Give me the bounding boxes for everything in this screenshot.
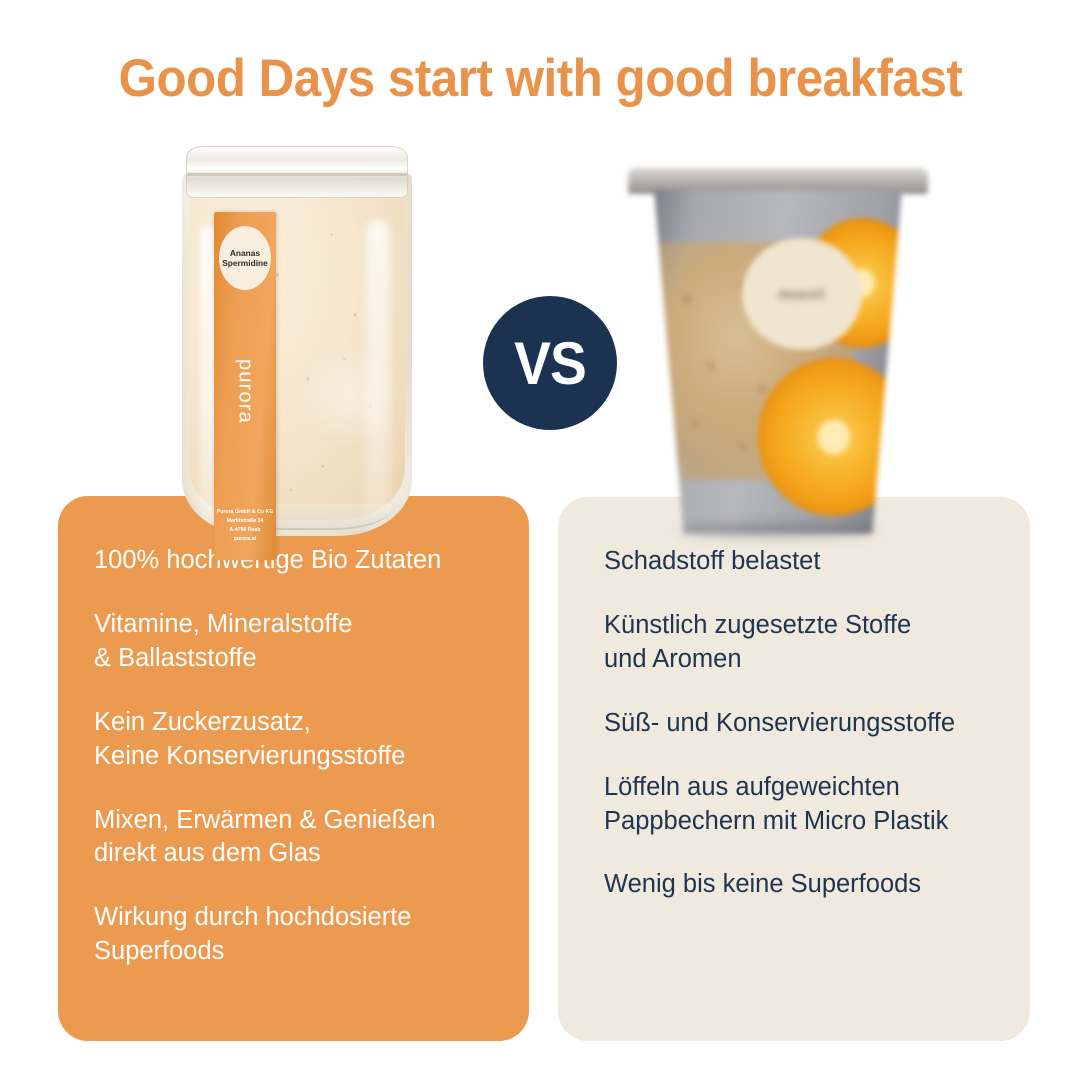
- label-flavor-line-1: Ananas: [230, 248, 260, 259]
- cup-shadow: [680, 522, 876, 538]
- vs-badge: VS: [483, 296, 617, 430]
- drawbacks-list: Schadstoff belastet Künstlich zugesetzte…: [604, 545, 1016, 902]
- list-item: Löffeln aus aufgeweichten Pappbechern mi…: [604, 771, 1016, 839]
- list-item: Wirkung durch hochdosierte Superfoods: [94, 901, 507, 969]
- list-item: Vitamine, Mineralstoffe & Ballaststoffe: [94, 608, 507, 676]
- label-flavor-line-2: Spermidine: [222, 258, 268, 269]
- benefits-list: 100% hochwertige Bio Zutaten Vitamine, M…: [94, 544, 507, 969]
- cup-body: muesli: [654, 190, 902, 534]
- list-item: Kein Zuckerzusatz, Keine Konservierungss…: [94, 706, 507, 774]
- list-item: 100% hochwertige Bio Zutaten: [94, 544, 507, 578]
- product-image-purora-jar: Ananas Spermidine purora Purora GmbH & C…: [176, 146, 418, 538]
- benefits-panel-purora: 100% hochwertige Bio Zutaten Vitamine, M…: [58, 496, 529, 1041]
- page-title: Good Days start with good breakfast: [38, 48, 1043, 109]
- label-fine-print-line-2: Marktstraße 34: [214, 517, 276, 526]
- list-item: Künstlich zugesetzte Stoffe und Aromen: [604, 609, 1016, 677]
- product-label: Ananas Spermidine purora Purora GmbH & C…: [214, 212, 276, 560]
- label-fine-print-line-3: A-4780 Raab: [214, 526, 276, 535]
- label-fine-print-line-1: Purora GmbH & Co KG: [214, 508, 276, 517]
- cup-brand-badge: muesli: [742, 238, 862, 350]
- jar-highlight-right: [366, 220, 390, 536]
- vs-badge-label: VS: [514, 329, 586, 398]
- label-flavor-oval: Ananas Spermidine: [219, 226, 271, 290]
- cup-brand-badge-text: muesli: [778, 287, 825, 302]
- jar-rim: [186, 146, 408, 198]
- label-fine-print-line-4: purora.at: [214, 535, 276, 544]
- list-item: Wenig bis keine Superfoods: [604, 868, 1016, 902]
- list-item: Schadstoff belastet: [604, 545, 1016, 579]
- orange-slice-icon-bottom: [758, 358, 902, 516]
- list-item: Süß- und Konservierungsstoffe: [604, 707, 1016, 741]
- brand-wordmark-purora: purora: [234, 359, 257, 424]
- drawbacks-panel-competitor: Schadstoff belastet Künstlich zugesetzte…: [558, 497, 1030, 1041]
- list-item: Mixen, Erwärmen & Genießen direkt aus de…: [94, 804, 507, 872]
- product-image-competitor-cup: muesli: [628, 168, 928, 534]
- label-fine-print: Purora GmbH & Co KG Marktstraße 34 A-478…: [214, 508, 276, 544]
